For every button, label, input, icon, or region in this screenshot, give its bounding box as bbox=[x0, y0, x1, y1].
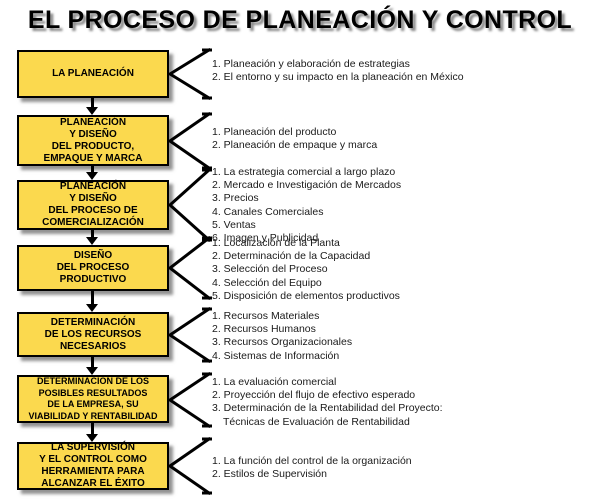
detail-item: 4. Selección del Equipo bbox=[212, 277, 400, 290]
detail-item: 2. El entorno y su impacto en la planeac… bbox=[212, 71, 464, 84]
detail-item: 3. Recursos Organizacionales bbox=[212, 336, 352, 349]
detail-list-determinacion-resultados: 1. La evaluación comercial2. Proyección … bbox=[212, 376, 443, 429]
detail-list-planeacion-diseno-comercializacion: 1. La estrategia comercial a largo plazo… bbox=[212, 166, 401, 245]
detail-list-diseno-proceso-productivo: 1. Localizaclón de la Planta2. Determina… bbox=[212, 237, 400, 303]
stage-label-diseno-proceso-productivo: DISEÑO DEL PROCESO PRODUCTIVO bbox=[56, 250, 131, 286]
stage-label-planeacion-diseno-comercializacion: PLANEACIÓN Y DISEÑO DEL PROCESO DE COMER… bbox=[41, 181, 145, 229]
stage-label-supervision-control: LA SUPERVISIÓN Y EL CONTROL COMO HERRAMI… bbox=[38, 442, 148, 490]
stage-box-diseno-proceso-productivo: DISEÑO DEL PROCESO PRODUCTIVO bbox=[17, 245, 169, 291]
detail-item: 4. Sistemas de Información bbox=[212, 350, 352, 363]
detail-item: 2. Determinación de la Capacidad bbox=[212, 250, 400, 263]
stage-label-la-planeacion: LA PLANEACIÓN bbox=[51, 68, 135, 80]
bracket-connector-supervision-control bbox=[168, 437, 212, 495]
flowchart-canvas: EL PROCESO DE PLANEACIÓN Y CONTROL LA PL… bbox=[0, 0, 600, 500]
flow-arrow-head-icon bbox=[86, 172, 98, 180]
flow-arrow-shaft bbox=[91, 230, 94, 237]
flow-arrow-shaft bbox=[91, 423, 94, 434]
bracket-connector-planeacion-diseno-comercializacion bbox=[168, 168, 212, 242]
detail-item: 2. Proyección del flujo de efectivo espe… bbox=[212, 389, 443, 402]
stage-box-determinacion-recursos: DETERMINACIÓN DE LOS RECURSOS NECESARIOS bbox=[17, 312, 169, 357]
detail-item: 4. Canales Comerciales bbox=[212, 206, 401, 219]
detail-item: 2. Estilos de Supervisión bbox=[212, 468, 412, 481]
stage-box-planeacion-diseno-comercializacion: PLANEACIÓN Y DISEÑO DEL PROCESO DE COMER… bbox=[17, 180, 169, 230]
detail-item: 2. Recursos Humanos bbox=[212, 323, 352, 336]
bracket-connector-planeacion-diseno-producto bbox=[168, 112, 212, 170]
stage-label-determinacion-resultados: DETERMINACIÓN DE LOS POSIBLES RESULTADOS… bbox=[27, 376, 158, 422]
stage-box-determinacion-resultados: DETERMINACIÓN DE LOS POSIBLES RESULTADOS… bbox=[17, 375, 169, 423]
detail-item: 5. Disposición de elementos productivos bbox=[212, 290, 400, 303]
stage-box-la-planeacion: LA PLANEACIÓN bbox=[17, 50, 169, 98]
detail-item: 1. La evaluación comercial bbox=[212, 376, 443, 389]
detail-list-planeacion-diseno-producto: 1. Planeación del producto2. Planeación … bbox=[212, 126, 377, 152]
stage-label-determinacion-recursos: DETERMINACIÓN DE LOS RECURSOS NECESARIOS bbox=[44, 317, 143, 353]
detail-list-determinacion-recursos: 1. Recursos Materiales2. Recursos Humano… bbox=[212, 310, 352, 363]
page-title: EL PROCESO DE PLANEACIÓN Y CONTROL bbox=[0, 6, 600, 35]
stage-box-planeacion-diseno-producto: PLANEACIÓN Y DISEÑO DEL PRODUCTO, EMPAQU… bbox=[17, 115, 169, 166]
stage-label-planeacion-diseno-producto: PLANEACIÓN Y DISEÑO DEL PRODUCTO, EMPAQU… bbox=[43, 117, 144, 165]
detail-item: 3. Selección del Proceso bbox=[212, 263, 400, 276]
flow-arrow-head-icon bbox=[86, 107, 98, 115]
detail-item: 3. Determinación de la Rentabilidad del … bbox=[212, 402, 443, 415]
flow-arrow-head-icon bbox=[86, 304, 98, 312]
detail-item: 1. Planeación del producto bbox=[212, 126, 377, 139]
bracket-connector-diseno-proceso-productivo bbox=[168, 236, 212, 300]
bracket-connector-la-planeacion bbox=[168, 48, 212, 100]
bracket-connector-determinacion-recursos bbox=[168, 307, 212, 363]
flow-arrow-shaft bbox=[91, 98, 94, 107]
detail-list-la-planeacion: 1. Planeación y elaboración de estrategi… bbox=[212, 58, 464, 84]
detail-item: 3. Precios bbox=[212, 192, 401, 205]
detail-item: 1. Recursos Materiales bbox=[212, 310, 352, 323]
detail-item: 1. Localizaclón de la Planta bbox=[212, 237, 400, 250]
detail-item: Técnicas de Evaluación de Rentabilidad bbox=[212, 416, 443, 429]
flow-arrow-shaft bbox=[91, 357, 94, 367]
bracket-connector-determinacion-resultados bbox=[168, 372, 212, 428]
detail-item: 2. Planeación de empaque y marca bbox=[212, 139, 377, 152]
detail-item: 1. La función del control de la organiza… bbox=[212, 455, 412, 468]
detail-item: 1. Planeación y elaboración de estrategi… bbox=[212, 58, 464, 71]
detail-item: 1. La estrategia comercial a largo plazo bbox=[212, 166, 401, 179]
flow-arrow-head-icon bbox=[86, 367, 98, 375]
flow-arrow-head-icon bbox=[86, 237, 98, 245]
detail-item: 5. Ventas bbox=[212, 219, 401, 232]
stage-box-supervision-control: LA SUPERVISIÓN Y EL CONTROL COMO HERRAMI… bbox=[17, 442, 169, 490]
flow-arrow-shaft bbox=[91, 291, 94, 304]
detail-item: 2. Mercado e Investigación de Mercados bbox=[212, 179, 401, 192]
detail-list-supervision-control: 1. La función del control de la organiza… bbox=[212, 455, 412, 481]
flow-arrow-head-icon bbox=[86, 434, 98, 442]
